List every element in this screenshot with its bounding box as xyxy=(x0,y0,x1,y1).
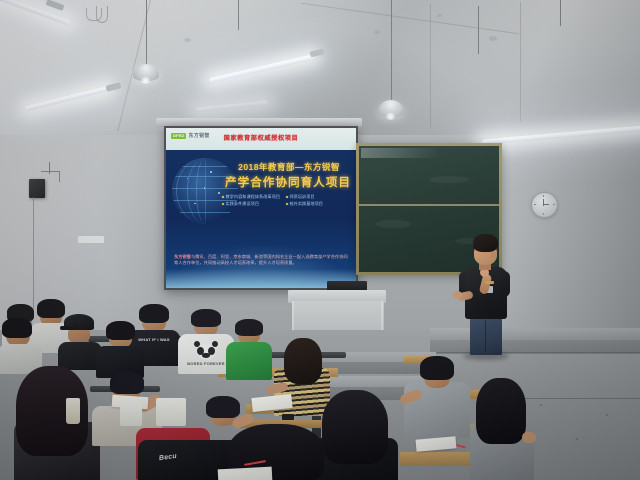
list-item xyxy=(0,318,40,368)
panda-graphic-icon xyxy=(195,342,217,360)
list-item: 教学内容和课程体系改革项目 xyxy=(222,194,280,200)
bullet-diamond-icon xyxy=(286,203,289,206)
list-item xyxy=(96,322,144,376)
slide-banner-text: 国家教育部权威授权项目 xyxy=(166,133,356,142)
bullet-label: 师资培训项目 xyxy=(289,194,314,200)
student-hair xyxy=(139,304,169,323)
presenter-ear xyxy=(491,252,496,258)
student-hair xyxy=(2,318,32,338)
list-item xyxy=(404,356,470,436)
student-hair xyxy=(110,372,144,394)
presenter-watch xyxy=(485,281,494,284)
bullet-diamond-icon xyxy=(286,196,289,199)
list-item: 校外实践基地项目 xyxy=(286,201,344,207)
tote-bag xyxy=(120,402,142,426)
slide-title-line2: 产学合作协同育人项目 xyxy=(224,174,352,190)
presenter-hair xyxy=(473,234,498,252)
student-hair xyxy=(106,321,135,340)
lecture-hall-photo: DFRZ 东方锐智 国家教育部权威授权项目 2018年教育部 xyxy=(0,0,640,480)
board-glare xyxy=(361,148,438,158)
student-arm xyxy=(522,432,536,443)
student-hair xyxy=(284,338,322,384)
list-item: 实践条件建设项目 xyxy=(222,201,280,207)
student-top xyxy=(226,342,272,380)
bullet-diamond-icon xyxy=(222,203,225,206)
smartphone[interactable] xyxy=(282,414,294,420)
bullet-label: 实践条件建设项目 xyxy=(226,201,260,207)
bullet-diamond-icon xyxy=(222,196,225,199)
presenter-hand-left xyxy=(453,291,462,299)
slide-bullet-list: 教学内容和课程体系改革项目 师资培训项目 实践条件建设项目 校外实践基地项目 xyxy=(222,194,348,207)
presenter xyxy=(455,234,515,362)
presentation-slide: DFRZ 东方锐智 国家教育部权威授权项目 2018年教育部 xyxy=(166,128,356,288)
bullet-label: 教学内容和课程体系改革项目 xyxy=(226,194,280,200)
list-item xyxy=(198,398,254,442)
list-item xyxy=(14,366,100,480)
student-hair xyxy=(476,378,526,444)
left-wall xyxy=(0,120,190,335)
student-hair xyxy=(191,309,221,327)
projection-screen[interactable]: DFRZ 东方锐智 国家教育部权威授权项目 2018年教育部 xyxy=(164,126,358,290)
student-hair xyxy=(420,356,454,380)
notebook xyxy=(218,467,273,480)
list-item xyxy=(226,322,272,380)
slide-title-line1: 2018年教育部—东方锐智 xyxy=(228,161,350,173)
shirt-text: BORED FOREVER xyxy=(186,362,226,367)
bullet-label: 校外实践基地项目 xyxy=(289,201,323,207)
list-item: 师资培训项目 xyxy=(286,194,344,200)
student-hair xyxy=(235,319,263,336)
presenter-jeans xyxy=(470,317,502,355)
tote-bag xyxy=(156,398,186,426)
list-item xyxy=(470,378,534,480)
water-bottle xyxy=(66,398,80,424)
wall-clock xyxy=(531,192,558,218)
student-hair xyxy=(206,396,240,418)
speaker-cable xyxy=(33,197,34,309)
ceiling xyxy=(0,0,640,135)
wall-speaker xyxy=(29,179,45,198)
wall-notice xyxy=(78,236,104,243)
cap-brim xyxy=(60,326,78,330)
